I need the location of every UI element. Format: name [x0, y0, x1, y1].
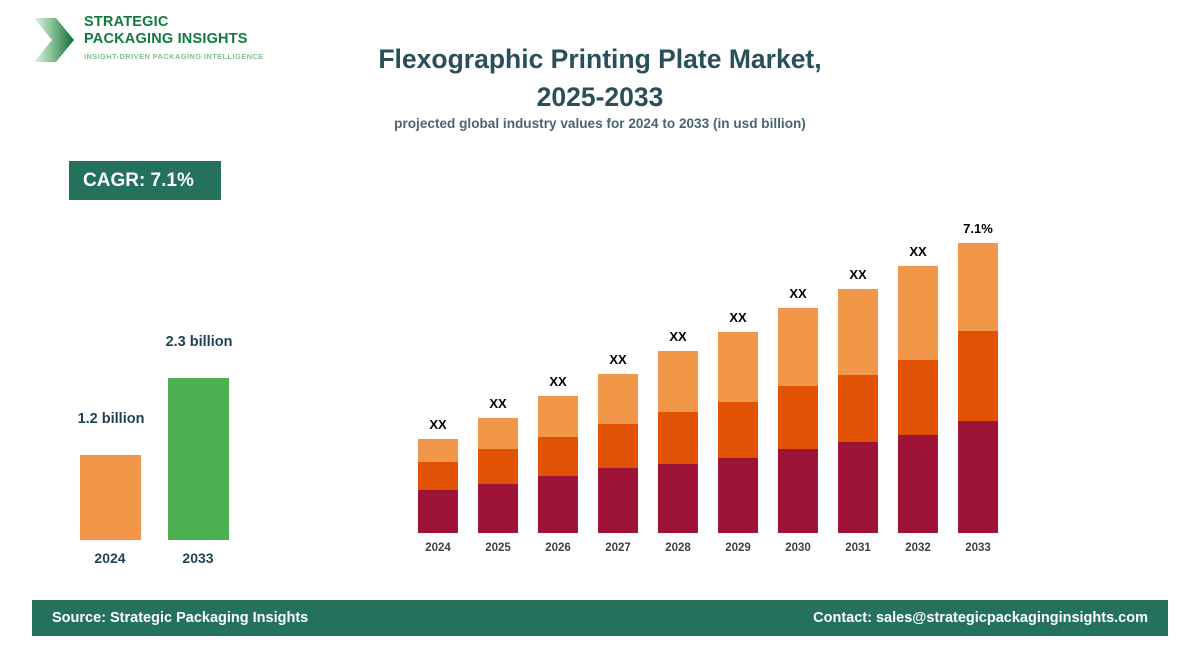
bar-segment-segment-top: [538, 396, 578, 436]
bar-segment-segment-bottom: [598, 468, 638, 533]
title-line-2: 2025-2033: [300, 78, 900, 116]
stacked-bar-value-8: XX: [873, 244, 963, 259]
bar-segment-segment-bottom: [478, 484, 518, 533]
bar-segment-segment-top: [418, 439, 458, 463]
title-line-1: Flexographic Printing Plate Market,: [300, 40, 900, 78]
stacked-bar-6: [778, 308, 818, 533]
stacked-bar-1: [478, 418, 518, 533]
stacked-bar-year-9: 2033: [938, 542, 1018, 554]
stacked-bar-3: [598, 374, 638, 533]
stacked-bar-0: [418, 439, 458, 533]
bar-segment-segment-middle: [898, 360, 938, 435]
infographic-page: STRATEGIC PACKAGING INSIGHTS INSIGHT-DRI…: [0, 0, 1200, 650]
bar-segment-segment-middle: [538, 437, 578, 476]
stacked-bar-9: [958, 243, 998, 533]
stacked-bar-value-5: XX: [693, 310, 783, 325]
bar-segment-segment-middle: [418, 462, 458, 490]
stacked-bar-value-6: XX: [753, 286, 843, 301]
bar-segment-segment-bottom: [778, 449, 818, 533]
bar-segment-segment-bottom: [838, 442, 878, 533]
bar-segment-segment-middle: [778, 386, 818, 449]
cagr-label: CAGR: 7.1%: [83, 170, 194, 192]
comparison-bar-chart: 1.2 billion 2024 2.3 billion 2033: [50, 300, 280, 570]
logo-line-1: STRATEGIC: [84, 14, 264, 31]
mini-bar-year-0: 2024: [60, 550, 160, 566]
stacked-bar-value-1: XX: [453, 396, 543, 411]
bar-segment-segment-middle: [478, 449, 518, 483]
bar-segment-segment-top: [478, 418, 518, 449]
logo-line-2: PACKAGING INSIGHTS: [84, 31, 264, 48]
footer-source: Source: Strategic Packaging Insights: [52, 610, 308, 626]
footer-bar: Source: Strategic Packaging Insights Con…: [32, 600, 1168, 636]
stacked-bar-5: [718, 332, 758, 533]
mini-bar-0: [80, 455, 141, 540]
stacked-bar-value-2: XX: [513, 374, 603, 389]
bar-segment-segment-top: [718, 332, 758, 402]
bar-segment-segment-bottom: [418, 490, 458, 533]
logo-text: STRATEGIC PACKAGING INSIGHTS INSIGHT-DRI…: [84, 14, 264, 61]
mini-bar-year-1: 2033: [148, 550, 248, 566]
bar-segment-segment-middle: [958, 331, 998, 421]
stacked-bar-2: [538, 396, 578, 533]
bar-segment-segment-bottom: [538, 476, 578, 533]
page-subtitle: projected global industry values for 202…: [300, 116, 900, 131]
mini-bar-value-0: 1.2 billion: [46, 411, 176, 427]
bar-segment-segment-middle: [598, 424, 638, 468]
stacked-bar-value-0: XX: [393, 417, 483, 432]
bar-segment-segment-middle: [838, 375, 878, 443]
bar-segment-segment-top: [898, 266, 938, 359]
bar-segment-segment-top: [598, 374, 638, 424]
chevron-right-icon: [32, 16, 76, 64]
stacked-bar-value-3: XX: [573, 352, 663, 367]
page-title: Flexographic Printing Plate Market, 2025…: [300, 40, 900, 116]
stacked-bar-value-4: XX: [633, 329, 723, 344]
bar-segment-segment-bottom: [658, 464, 698, 533]
bar-segment-segment-bottom: [898, 435, 938, 533]
bar-segment-segment-middle: [658, 412, 698, 464]
mini-bar-value-1: 2.3 billion: [134, 334, 264, 350]
stacked-bar-4: [658, 351, 698, 533]
cagr-badge: CAGR: 7.1%: [69, 161, 221, 200]
bar-segment-segment-top: [778, 308, 818, 387]
stacked-bar-value-7: XX: [813, 267, 903, 282]
stacked-bar-8: [898, 266, 938, 533]
stacked-bar-7: [838, 289, 878, 533]
bar-segment-segment-top: [958, 243, 998, 332]
bar-segment-segment-bottom: [718, 458, 758, 533]
stacked-bar-value-9: 7.1%: [933, 221, 1023, 236]
footer-contact: Contact: sales@strategicpackaginginsight…: [813, 610, 1148, 626]
bar-segment-segment-top: [658, 351, 698, 412]
stacked-bar-chart: XX2024XX2025XX2026XX2027XX2028XX2029XX20…: [410, 190, 1010, 560]
bar-segment-segment-top: [838, 289, 878, 375]
brand-logo: STRATEGIC PACKAGING INSIGHTS INSIGHT-DRI…: [32, 14, 272, 78]
bar-segment-segment-bottom: [958, 421, 998, 533]
mini-bar-1: [168, 378, 229, 540]
logo-tagline: INSIGHT-DRIVEN PACKAGING INTELLIGENCE: [84, 52, 264, 61]
bar-segment-segment-middle: [718, 402, 758, 458]
